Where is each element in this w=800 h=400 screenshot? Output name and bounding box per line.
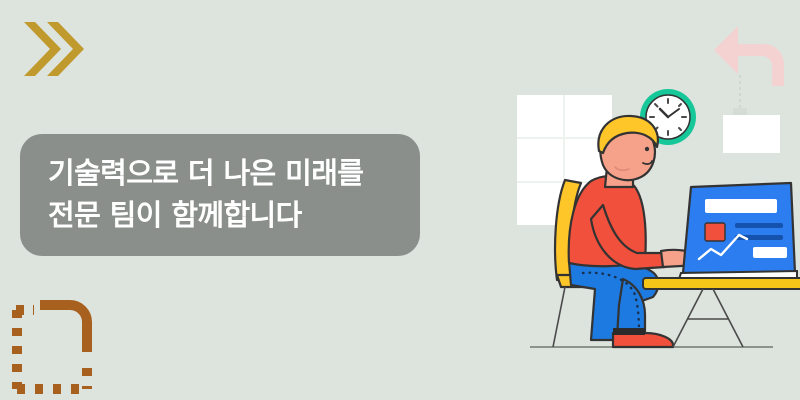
headline-line-1: 기술력으로 더 나은 미래를 xyxy=(48,152,420,194)
person-working-at-desk-illustration xyxy=(495,75,800,385)
laptop-red-thumbnail xyxy=(705,223,725,241)
laptop-button-bar xyxy=(753,247,787,258)
laptop-icon xyxy=(679,183,797,279)
dashed-corner-bracket-icon xyxy=(12,300,92,394)
hanging-picture-frame-icon xyxy=(723,75,780,153)
promo-banner: 기술력으로 더 나은 미래를 전문 팀이 함께합니다 xyxy=(0,0,800,400)
headline-panel: 기술력으로 더 나은 미래를 전문 팀이 함께합니다 xyxy=(20,134,420,256)
headline-line-2: 전문 팀이 함께합니다 xyxy=(48,194,420,236)
double-chevron-right-icon xyxy=(22,18,84,80)
laptop-header-bar xyxy=(705,199,777,213)
